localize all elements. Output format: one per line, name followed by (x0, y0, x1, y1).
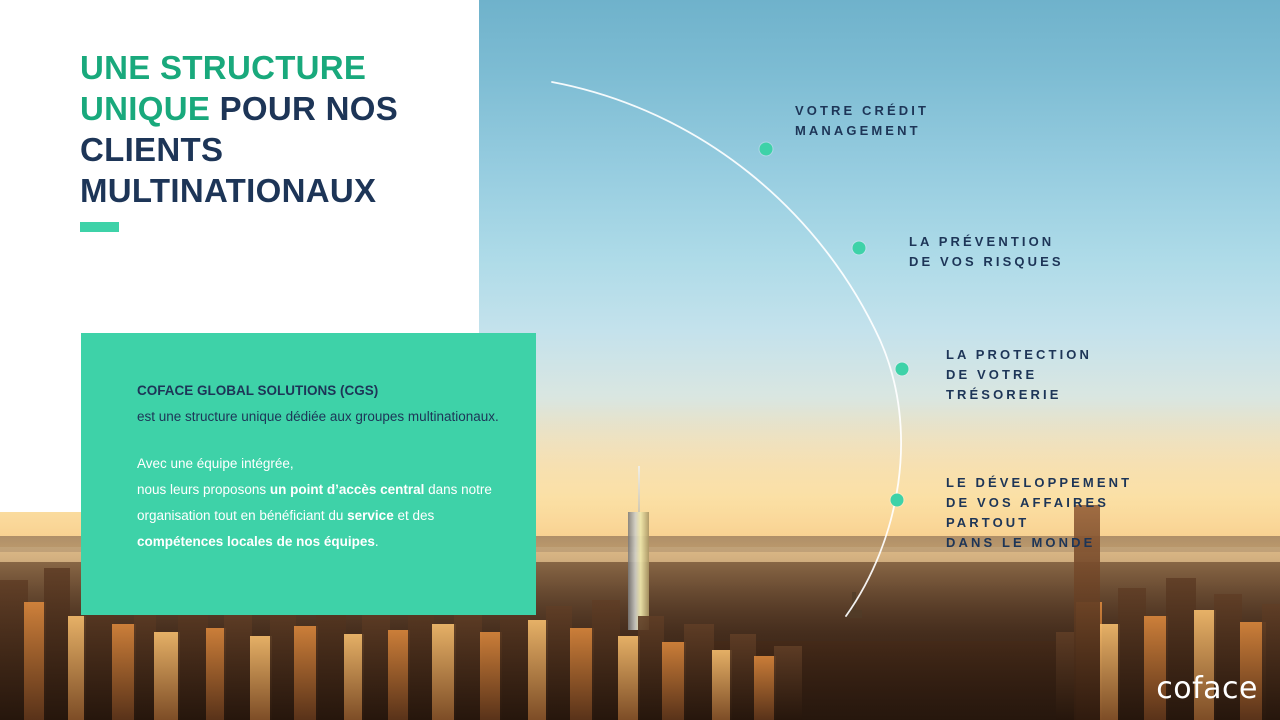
arc-label-credit-management: VOTRE CRÉDIT MANAGEMENT (795, 101, 929, 141)
callout-text-a: nous leurs proposons (137, 482, 270, 497)
callout-box: COFACE GLOBAL SOLUTIONS (CGS) est une st… (81, 333, 536, 615)
callout-line-intro: Avec une équipe intégrée, (137, 456, 294, 471)
callout-text-d: . (375, 534, 379, 549)
dot-protection-tresorerie[interactable] (896, 363, 909, 376)
callout-bold-central: un point d’accès central (270, 482, 425, 497)
arc-label-prevention-risques: LA PRÉVENTION DE VOS RISQUES (909, 232, 1064, 272)
callout-paragraph-1: COFACE GLOBAL SOLUTIONS (CGS) est une st… (137, 378, 514, 430)
callout-text-c: et des (394, 508, 435, 523)
page-title: UNE STRUCTURE UNIQUE POUR NOS CLIENTS MU… (80, 48, 480, 212)
slide-canvas: UNE STRUCTURE UNIQUE POUR NOS CLIENTS MU… (0, 0, 1280, 720)
callout-lead-rest: est une structure unique dédiée aux grou… (137, 409, 499, 424)
dot-developpement-affaires[interactable] (891, 494, 904, 507)
dot-credit-management[interactable] (760, 143, 773, 156)
title-accent-bar (80, 222, 119, 232)
dot-prevention-risques[interactable] (853, 242, 866, 255)
callout-bold-service: service (347, 508, 394, 523)
callout-lead-bold: COFACE GLOBAL SOLUTIONS (CGS) (137, 383, 378, 398)
arc-label-developpement-affaires: LE DÉVELOPPEMENT DE VOS AFFAIRES PARTOUT… (946, 473, 1132, 554)
callout-bold-competences: compétences locales de nos équipes (137, 534, 375, 549)
callout-text: COFACE GLOBAL SOLUTIONS (CGS) est une st… (137, 378, 514, 554)
coface-logo: coface (1156, 671, 1258, 706)
callout-paragraph-2: Avec une équipe intégrée, nous leurs pro… (137, 451, 514, 555)
arc-label-protection-tresorerie: LA PROTECTION DE VOTRE TRÉSORERIE (946, 345, 1092, 405)
